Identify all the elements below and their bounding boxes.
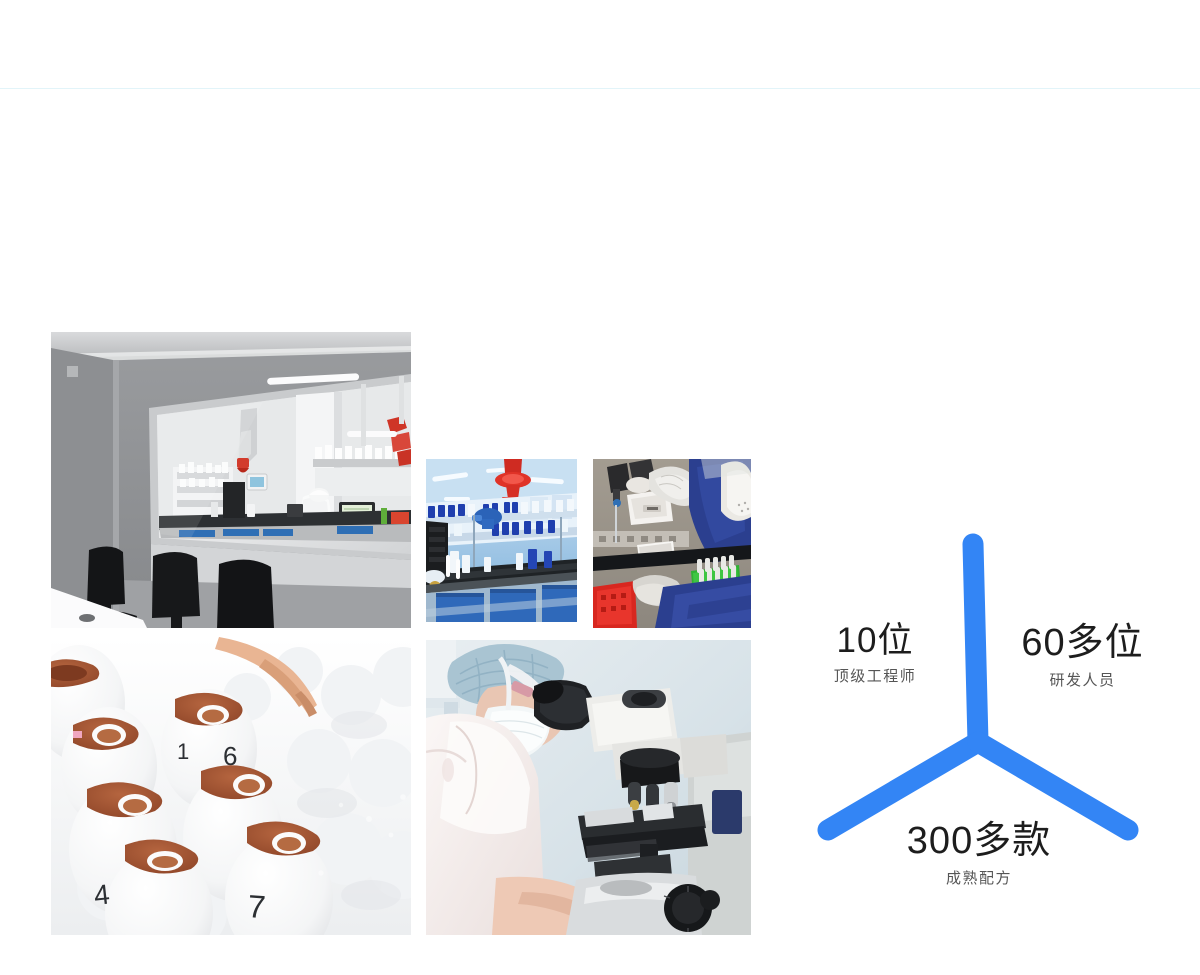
- photo-reagent-bench[interactable]: [426, 459, 577, 622]
- stat-top-engineers-label: 顶级工程师: [790, 666, 960, 688]
- top-divider: [0, 88, 1200, 89]
- stat-formulas-value: 300多款: [880, 818, 1078, 864]
- stat-formulas-label: 成熟配方: [880, 868, 1078, 890]
- stat-researchers-value: 60多位: [995, 620, 1170, 666]
- stat-top-engineers: 10位 顶级工程师: [790, 620, 960, 688]
- stat-top-engineers-value: 10位: [790, 620, 960, 662]
- stat-researchers: 60多位 研发人员: [995, 620, 1170, 692]
- photo-observation-window[interactable]: [51, 332, 411, 628]
- stat-researchers-label: 研发人员: [995, 670, 1170, 692]
- svg-text:4: 4: [92, 879, 111, 911]
- svg-text:7: 7: [247, 888, 267, 925]
- svg-text:1: 1: [177, 739, 189, 764]
- photo-biosafety-cabinet[interactable]: [593, 459, 751, 628]
- stat-formulas: 300多款 成熟配方: [880, 818, 1078, 890]
- photo-egg-inoculation[interactable]: 1 6 4 7: [51, 637, 411, 935]
- page-root: 1 6 4 7: [0, 0, 1200, 975]
- photo-microscope[interactable]: [426, 640, 751, 935]
